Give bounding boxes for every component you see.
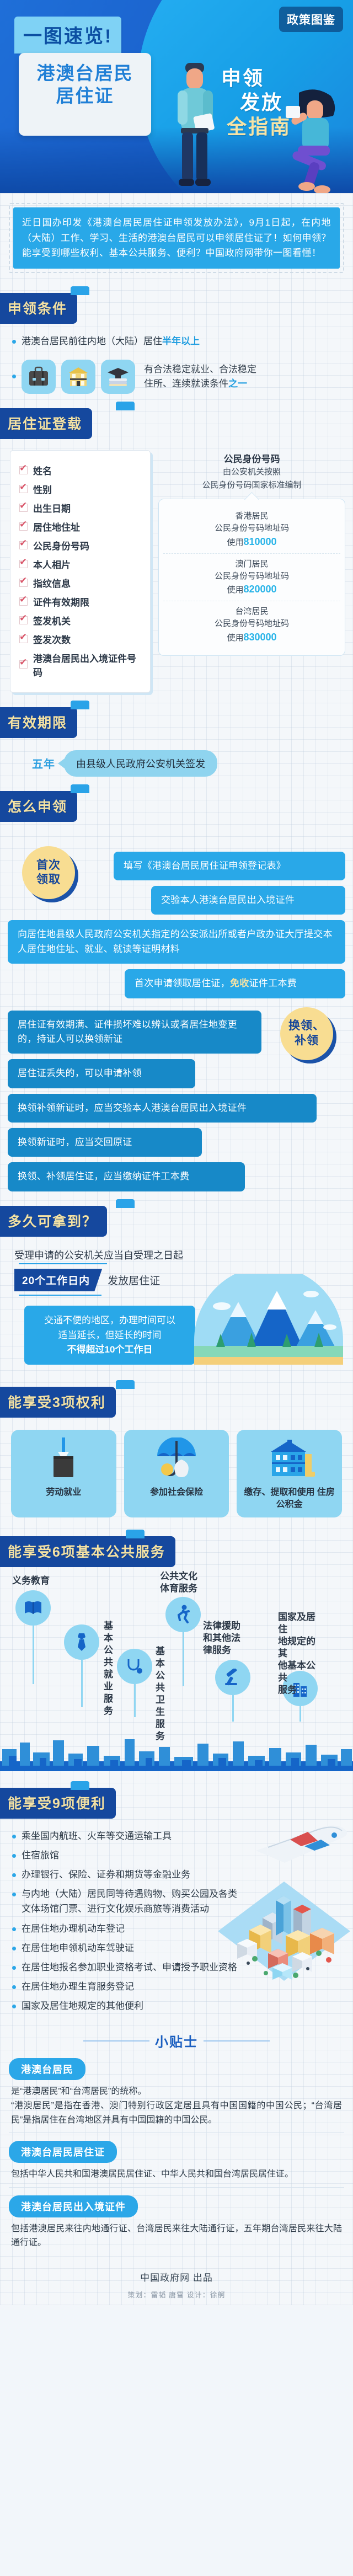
service-pin: 国家及居住 地规定的其 他基本公共 服务 — [282, 1671, 318, 1722]
rights-cards: 劳动就业 参加社会保险 — [0, 1422, 353, 1517]
bullet-dot-icon — [12, 375, 16, 378]
right-label: 劳动就业 — [15, 1487, 112, 1499]
region-code-value-wrap: 使用830000 — [163, 630, 340, 644]
checklist-label: 签发机关 — [33, 613, 71, 627]
region-code-value-wrap: 使用810000 — [163, 535, 340, 549]
pin-stick — [183, 1632, 184, 1686]
tips-title-line-right — [204, 2040, 270, 2041]
tips-title: 小贴士 — [155, 2031, 198, 2050]
validity-issuer: 由县级人民政府公安机关签发 — [64, 750, 217, 777]
city-skyline-divider — [0, 1737, 353, 1771]
condition-bullet-2-line2: 住所、连续就读条件之一 — [144, 377, 256, 391]
registration-content: 姓名 性别 出生日期 居住地住址 公民身份号码 本人相片 指纹信息 证件有效期限… — [0, 443, 353, 693]
bullet-dot-icon — [12, 2005, 16, 2008]
convenience-item: 乘坐国内航班、火车等交通运输工具 — [12, 1829, 243, 1843]
service-pin: 公共文化 体育服务 — [165, 1597, 201, 1686]
convenience-label: 乘坐国内航班、火车等交通运输工具 — [22, 1829, 172, 1843]
section-header-services: 能享受6项基本公共服务 — [0, 1536, 353, 1567]
renew-flow-group: 换领、 补领 居住证有效期满、证件损坏难以辨认或者居住地变更的，持证人可以换领新… — [8, 1011, 345, 1191]
bullet-dot-icon — [12, 1947, 16, 1950]
region-code-value-wrap: 使用820000 — [163, 582, 340, 596]
tip-body: 包括中华人民共和国港澳居民居住证、中华人民共和国台湾居民居住证。 — [9, 2163, 344, 2182]
convenience-label: 与内地（大陆）居民同等待遇购物、购买公园及各类文体场馆门票、进行文化娱乐商旅等消… — [22, 1886, 243, 1916]
checklist-item: 居住地住址 — [19, 520, 141, 533]
checklist-label: 港澳台居民出入境证件号码 — [33, 651, 141, 678]
renew-apply-badge-line1: 换领、 — [288, 1019, 325, 1033]
footer-publisher: 中国政府网 出品 — [0, 2270, 353, 2284]
check-icon — [19, 504, 28, 512]
renew-apply-badge-line2: 补领 — [295, 1034, 319, 1048]
check-icon — [19, 485, 28, 493]
tips-title-line-left — [83, 2040, 149, 2041]
tip-body: 是“港澳居民”和“台湾居民”的统称。 “港澳居民”是指在香港、澳门特别行政区定居… — [9, 2080, 344, 2127]
bullet-dot-icon — [12, 1854, 16, 1858]
id-number-sub-line1: 由公安机关按照 — [158, 466, 345, 478]
region-code-value: 830000 — [243, 632, 276, 643]
checklist-item: 性别 — [19, 482, 141, 496]
checklist-item: 本人相片 — [19, 557, 141, 571]
checklist-label: 签发次数 — [33, 632, 71, 646]
condition-bullet-2-line1: 有合法稳定就业、合法稳定 — [144, 362, 256, 377]
section-fold-decoration — [71, 1781, 89, 1790]
conditions-bullets: 港澳台居民前往内地（大陆）居住半年以上 — [0, 328, 353, 349]
bullet-dot-icon — [12, 1927, 16, 1931]
section-title-validity: 有效期限 — [0, 707, 77, 738]
pin-stick — [81, 1660, 83, 1707]
check-icon — [19, 522, 28, 531]
briefcase-icon-tile — [22, 360, 56, 394]
convenience-item: 在居住地申领机动车驾驶证 — [12, 1941, 243, 1955]
checklist-label: 出生日期 — [33, 501, 71, 515]
section-header-apply: 怎么申领 — [0, 791, 353, 822]
right-label: 参加社会保险 — [129, 1487, 225, 1499]
condition-highlight-oneof: 之一 — [228, 378, 247, 389]
hero-subtitle-line2: 发放 — [221, 90, 291, 115]
convenience-item: 与内地（大陆）居民同等待遇购物、购买公园及各类文体场馆门票、进行文化娱乐商旅等消… — [12, 1886, 243, 1916]
briefcase-icon — [28, 366, 50, 387]
tip-body: 包括港澳居民来往内地通行证、台湾居民来往大陆通行证，五年期台湾居民来往大陆通行证… — [9, 2217, 344, 2250]
region-code-value: 820000 — [243, 584, 276, 595]
service-pin: 法律援助 和其他法 律服务 — [215, 1660, 250, 1722]
quick-view-tag: 一图速览! — [14, 17, 121, 54]
hero-title-line1: 港澳台居民 — [25, 62, 145, 84]
service-bubble — [117, 1649, 152, 1684]
footer: 中国政府网 出品 策划：雷韬 唐雪 设计：徐舸 — [0, 2258, 353, 2305]
man-illustration — [161, 62, 227, 191]
bullet-dot-icon — [12, 1873, 16, 1877]
convenience-label: 在居住地办理生育服务登记 — [22, 1979, 134, 1994]
first-apply-badge: 首次 领取 — [22, 846, 75, 899]
convenience-item: 住宿旅馆 — [12, 1848, 243, 1863]
right-label: 缴存、提取和使用 住房公积金 — [241, 1487, 338, 1510]
pin-stick — [134, 1684, 136, 1717]
checklist-label: 指纹信息 — [33, 576, 71, 590]
fee-free-highlight: 免收 — [230, 978, 249, 988]
check-icon — [19, 616, 28, 624]
renew-step-5: 换领、补领居住证，应当缴纳证件工本费 — [8, 1162, 245, 1191]
condition-bullet-1: 港澳台居民前往内地（大陆）居住半年以上 — [12, 334, 343, 349]
right-card: 参加社会保险 — [124, 1430, 229, 1517]
tip-heading: 港澳台居民居住证 — [9, 2141, 117, 2163]
howlong-line1: 受理申请的公安机关应当自受理之日起 — [14, 1248, 343, 1264]
bullet-dot-icon — [12, 340, 16, 344]
howlong-rule-bottom — [19, 1295, 101, 1296]
region-code-desc: 公民身份号码地址码 — [163, 570, 340, 582]
tip-heading: 港澳台居民出入境证件 — [9, 2195, 138, 2217]
pin-stick — [33, 1626, 34, 1684]
convenience-label: 在居住地办理机动车登记 — [22, 1921, 125, 1936]
body-content: 近日国办印发《港澳台居民居住证申领发放办法》，9月1日起，在内地（大陆）工作、学… — [0, 193, 353, 2305]
apply-step-row: 换领新证时，应当交回原证 — [8, 1128, 345, 1157]
section-fold-decoration — [116, 1380, 135, 1389]
lead-paragraph: 近日国办印发《港澳台居民居住证申领发放办法》，9月1日起，在内地（大陆）工作、学… — [13, 207, 340, 269]
checklist-label: 居住地住址 — [33, 520, 80, 533]
section-header-conveniences: 能享受9项便利 — [0, 1788, 353, 1819]
section-title-registration: 居住证登载 — [0, 408, 92, 439]
house-icon-tile — [61, 360, 95, 394]
bullet-dot-icon — [12, 1985, 16, 1989]
section-title-services: 能享受6项基本公共服务 — [0, 1536, 175, 1567]
checklist-item: 签发次数 — [19, 632, 141, 646]
id-number-sub-line2: 公民身份号码国家标准编制 — [158, 479, 345, 491]
howlong-rule-top — [19, 1263, 107, 1264]
region-code-desc: 公民身份号码地址码 — [163, 618, 340, 630]
service-label: 基本公共 就业服务 — [104, 1620, 113, 1718]
section-header-validity: 有效期限 — [0, 707, 353, 738]
lead-dashed-frame: 近日国办印发《港澳台居民居住证申领发放办法》，9月1日起，在内地（大陆）工作、学… — [9, 203, 344, 273]
apply-step-row: 换领补领新证时，应当交验本人港澳台居民出入境证件 — [8, 1094, 345, 1123]
tips-title-row: 小贴士 — [9, 2031, 344, 2050]
first-apply-badge-line2: 领取 — [36, 873, 61, 887]
isometric-city-illustration — [215, 1865, 353, 2003]
check-icon — [19, 597, 28, 606]
region-code-item: 台湾居民 公民身份号码地址码 使用830000 — [163, 601, 340, 649]
convenience-item: 在居住地办理生育服务登记 — [12, 1979, 243, 1994]
pin-stick — [299, 1706, 301, 1722]
delay-line2: 适当延长，但延长的时间 — [33, 1328, 186, 1343]
convenience-item: 在居住地报名参加职业资格考试、申请授予职业资格 — [12, 1960, 243, 1975]
region-code-desc: 公民身份号码地址码 — [163, 522, 340, 535]
convenience-item: 办理银行、保险、证券和期货等金融业务 — [12, 1867, 243, 1882]
section-fold-decoration — [71, 286, 89, 295]
tip-divider — [9, 2187, 344, 2188]
checklist-item: 指纹信息 — [19, 576, 141, 590]
region-codes-callout: 香港居民 公民身份号码地址码 使用810000 澳门居民 公民身份号码地址码 使… — [158, 499, 345, 656]
section-title-rights: 能享受3项权利 — [0, 1387, 116, 1418]
bullet-dot-icon — [12, 1966, 16, 1970]
check-icon — [19, 466, 28, 474]
checklist-item: 出生日期 — [19, 501, 141, 515]
hero-subtitle-line1: 申领 — [221, 66, 291, 90]
service-label: 义务教育 — [12, 1575, 50, 1587]
tips-section: 小贴士 港澳台居民 是“港澳居民”和“台湾居民”的统称。 “港澳居民”是指在香港… — [0, 2018, 353, 2250]
renew-step-1: 居住证有效期满、证件损坏难以辨认或者居住地变更的，持证人可以换领新证 — [8, 1011, 261, 1054]
tie-icon — [74, 1633, 89, 1652]
apply-step-3: 向居住地县级人民政府公安机关指定的公安派出所或者户政办证大厅提交本人居住地住址、… — [8, 920, 345, 964]
service-label: 国家及居住 地规定的其 他基本公共 服务 — [278, 1611, 318, 1697]
tip-heading: 港澳台居民 — [9, 2058, 85, 2080]
service-pin: 基本公共 就业服务 — [64, 1624, 99, 1707]
renew-apply-badge: 换领、 补领 — [280, 1007, 333, 1060]
bullet-dot-icon — [12, 1893, 16, 1896]
section-title-conveniences: 能享受9项便利 — [0, 1788, 116, 1819]
house-icon — [67, 366, 89, 388]
delay-line3: 不得超过10个工作日 — [33, 1343, 186, 1357]
mountain-illustration — [194, 1274, 343, 1368]
region-name: 台湾居民 — [163, 606, 340, 618]
apply-step-row: 居住证丢失的，可以申请补领 — [8, 1059, 345, 1088]
service-bubble — [64, 1624, 99, 1660]
id-number-title: 公民身份号码 — [158, 451, 345, 465]
service-label: 公共文化 体育服务 — [160, 1570, 197, 1595]
convenience-label: 国家及居住地规定的其他便利 — [22, 1998, 143, 2013]
convenience-item: 在居住地办理机动车登记 — [12, 1921, 243, 1936]
hero-subtitle-group: 申领 发放 全指南 — [221, 66, 291, 139]
convenience-label: 住宿旅馆 — [22, 1848, 59, 1863]
gavel-icon — [224, 1669, 242, 1686]
quick-view-tag-text: 一图速览! — [23, 26, 113, 47]
graduation-book-icon — [106, 366, 130, 387]
service-bubble — [215, 1660, 250, 1695]
check-icon — [19, 579, 28, 587]
checklist-item: 姓名 — [19, 463, 141, 477]
service-bubble — [165, 1597, 201, 1632]
conveniences-section: 能享受9项便利 乘坐国内航班、火车等交通运输工具 住宿旅馆 办理银行、保险、证券… — [0, 1788, 353, 2014]
checklist-item: 签发机关 — [19, 613, 141, 627]
service-bubble — [15, 1590, 51, 1626]
region-name: 澳门居民 — [163, 558, 340, 570]
checklist-item: 港澳台居民出入境证件号码 — [19, 651, 141, 678]
howlong-content: 受理申请的公安机关应当自受理之日起 20个工作日内 发放居住证 交通不便的地区，… — [0, 1241, 353, 1365]
service-pin: 义务教育 — [15, 1590, 51, 1684]
checklist-label: 本人相片 — [33, 557, 71, 571]
tip-divider — [9, 2133, 344, 2133]
section-fold-decoration — [71, 701, 89, 709]
delay-line1: 交通不便的地区，办理时间可以 — [33, 1313, 186, 1328]
tip-block: 港澳台居民出入境证件 包括港澳居民来往内地通行证、台湾居民来往大陆通行证，五年期… — [9, 2195, 344, 2250]
hero-title-card: 港澳台居民 居住证 — [19, 53, 151, 136]
id-number-panel: 公民身份号码 由公安机关按照 公民身份号码国家标准编制 香港居民 公民身份号码地… — [158, 450, 345, 693]
lead-section: 近日国办印发《港澳台居民居住证申领发放办法》，9月1日起，在内地（大陆）工作、学… — [0, 193, 353, 279]
section-header-conditions: 申领条件 — [0, 293, 353, 324]
infographic-page: 政策图鉴 一图速览! 港澳台居民 居住证 — [0, 0, 353, 2305]
brand-logo-text: 政策图鉴 — [287, 14, 335, 26]
apply-flow: 首次 领取 填写《港澳台居民居住证申领登记表》 交验本人港澳台居民出入境证件 向… — [0, 826, 353, 1191]
section-title-howlong: 多久可拿到？ — [0, 1206, 107, 1237]
hero-subtitle-line3: 全指南 — [221, 115, 291, 139]
hero-banner: 政策图鉴 一图速览! 港澳台居民 居住证 — [0, 0, 353, 193]
registration-checklist-card: 姓名 性别 出生日期 居住地住址 公民身份号码 本人相片 指纹信息 证件有效期限… — [10, 450, 151, 693]
pin-stick — [232, 1695, 234, 1722]
section-fold-decoration — [71, 784, 89, 793]
checklist-label: 证件有效期限 — [33, 595, 89, 608]
check-icon — [19, 541, 28, 549]
bullet-dot-icon — [12, 1835, 16, 1839]
apply-step-2: 交验本人港澳台居民出入境证件 — [151, 886, 345, 915]
validity-row: 五年 由县级人民政府公安机关签发 — [0, 742, 353, 777]
howlong-after-chip: 发放居住证 — [108, 1273, 160, 1287]
book-icon — [24, 1600, 42, 1616]
checklist-label: 姓名 — [33, 463, 52, 477]
graduation-book-icon-tile — [101, 360, 135, 394]
checklist-item: 证件有效期限 — [19, 595, 141, 608]
condition-bullet-2-text: 有合法稳定就业、合法稳定 住所、连续就读条件之一 — [144, 362, 256, 391]
briefcase-icon — [44, 1437, 83, 1481]
howlong-days-chip: 20个工作日内 — [14, 1269, 102, 1291]
renew-step-2: 居住证丢失的，可以申请补领 — [8, 1059, 195, 1088]
right-card: 劳动就业 — [11, 1430, 116, 1517]
apply-step-1: 填写《港澳台居民居住证申领登记表》 — [114, 852, 345, 880]
apply-step-row: 向居住地县级人民政府公安机关指定的公安派出所或者户政办证大厅提交本人居住地住址、… — [8, 920, 345, 964]
house-money-icon — [263, 1437, 316, 1481]
renew-step-4: 换领新证时，应当交回原证 — [8, 1128, 202, 1157]
section-title-apply: 怎么申领 — [0, 791, 77, 822]
stethoscope-icon — [126, 1658, 143, 1675]
region-code-item: 香港居民 公民身份号码地址码 使用810000 — [163, 506, 340, 553]
right-card: 缴存、提取和使用 住房公积金 — [237, 1430, 342, 1517]
check-icon — [19, 560, 28, 568]
runner-icon — [175, 1605, 191, 1624]
checklist-label: 公民身份号码 — [33, 538, 89, 552]
service-label: 基本公共 卫生服务 — [156, 1645, 165, 1743]
tip-block: 港澳台居民 是“港澳居民”和“台湾居民”的统称。 “港澳居民”是指在香港、澳门特… — [9, 2058, 344, 2133]
convenience-item: 国家及居住地规定的其他便利 — [12, 1998, 243, 2013]
section-fold-decoration — [116, 1199, 135, 1208]
umbrella-icon — [153, 1437, 200, 1481]
services-pins: 义务教育 基本公共 就业服务 — [0, 1572, 353, 1737]
section-fold-decoration — [126, 1530, 145, 1538]
condition-icons-row: 有合法稳定就业、合法稳定 住所、连续就读条件之一 — [0, 353, 353, 394]
checklist-item: 公民身份号码 — [19, 538, 141, 552]
first-apply-badge-line1: 首次 — [36, 858, 61, 873]
woman-illustration — [282, 88, 349, 193]
service-pin: 基本公共 卫生服务 — [117, 1649, 152, 1717]
region-code-value: 810000 — [243, 536, 276, 547]
check-icon — [19, 660, 28, 669]
check-icon — [19, 635, 28, 643]
convenience-label: 在居住地报名参加职业资格考试、申请授予职业资格 — [22, 1960, 237, 1975]
condition-highlight-duration: 半年以上 — [162, 336, 200, 346]
section-fold-decoration — [116, 402, 135, 410]
condition-bullet-1-text: 港澳台居民前往内地（大陆）居住半年以上 — [22, 334, 200, 349]
section-header-registration: 居住证登载 — [0, 408, 353, 439]
convenience-label: 在居住地申领机动车驾驶证 — [22, 1941, 134, 1955]
howlong-delay-box: 交通不便的地区，办理时间可以 适当延长，但延长的时间 不得超过10个工作日 — [24, 1306, 195, 1365]
footer-credits: 策划：雷韬 唐雪 设计：徐舸 — [0, 2289, 353, 2300]
region-code-item: 澳门居民 公民身份号码地址码 使用820000 — [163, 553, 340, 601]
hero-title-line2: 居住证 — [25, 84, 145, 107]
apply-step-4: 首次申请领取居住证，免收证件工本费 — [125, 969, 345, 998]
section-header-howlong: 多久可拿到？ — [0, 1206, 353, 1237]
checklist-label: 性别 — [33, 482, 52, 496]
section-header-rights: 能享受3项权利 — [0, 1387, 353, 1418]
service-label: 法律援助 和其他法 律服务 — [203, 1620, 240, 1656]
airplane-illustration — [252, 1821, 351, 1870]
brand-logo: 政策图鉴 — [279, 7, 343, 32]
apply-step-row: 首次申请领取居住证，免收证件工本费 — [8, 969, 345, 998]
validity-years: 五年 — [32, 755, 55, 771]
convenience-label: 办理银行、保险、证券和期货等金融业务 — [22, 1867, 190, 1882]
region-name: 香港居民 — [163, 510, 340, 522]
tip-block: 港澳台居民居住证 包括中华人民共和国港澳居民居住证、中华人民共和国台湾居民居住证… — [9, 2141, 344, 2188]
renew-step-3: 换领补领新证时，应当交验本人港澳台居民出入境证件 — [8, 1094, 317, 1123]
apply-step-row: 换领、补领居住证，应当缴纳证件工本费 — [8, 1162, 345, 1191]
section-title-conditions: 申领条件 — [0, 293, 77, 324]
